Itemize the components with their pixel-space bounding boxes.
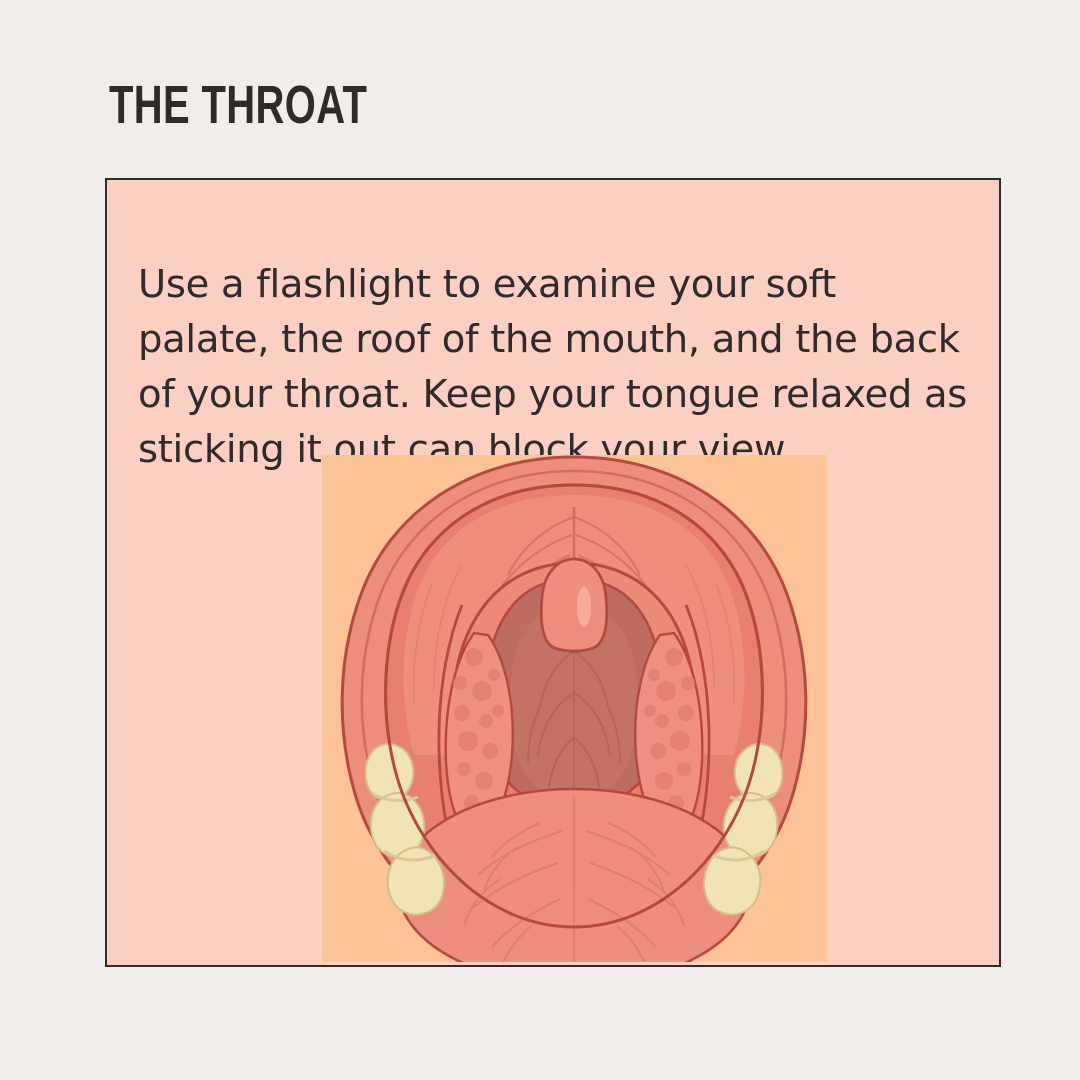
page-title: THE THROAT — [109, 76, 367, 134]
throat-anatomy-svg — [322, 455, 827, 962]
card-body-text: Use a flashlight to examine your soft pa… — [138, 257, 978, 477]
throat-illustration — [322, 455, 827, 962]
uvula — [541, 559, 606, 651]
content-card: Use a flashlight to examine your soft pa… — [105, 178, 1001, 967]
uvula-highlight — [577, 587, 591, 627]
